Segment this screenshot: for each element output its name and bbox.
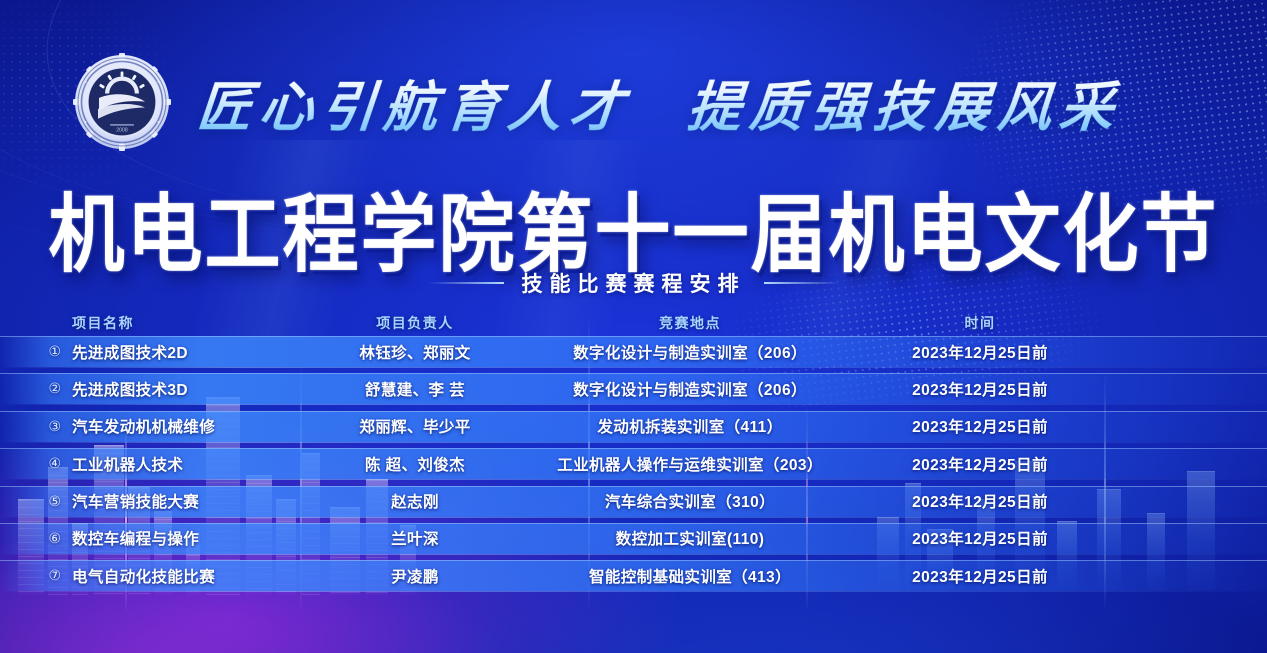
school-emblem-icon: 2008 bbox=[72, 52, 172, 152]
row-name: 数控车编程与操作 bbox=[72, 527, 310, 549]
row-index: ⑤ bbox=[0, 493, 72, 510]
row-index: ④ bbox=[0, 455, 72, 472]
table-row: ⑥ 数控车编程与操作 兰叶深 数控加工实训室(110) 2023年12月25日前 bbox=[0, 523, 1267, 554]
svg-text:2008: 2008 bbox=[116, 127, 128, 133]
row-leader: 舒慧建、李 芸 bbox=[310, 378, 520, 400]
row-name: 工业机器人技术 bbox=[72, 453, 310, 475]
row-index: ① bbox=[0, 343, 72, 360]
row-leader: 林钰珍、郑丽文 bbox=[310, 341, 520, 363]
column-header-time: 时间 bbox=[860, 313, 1100, 333]
row-time: 2023年12月25日前 bbox=[860, 565, 1100, 587]
row-place: 数控加工实训室(110) bbox=[520, 527, 860, 549]
table-row: ④ 工业机器人技术 陈 超、刘俊杰 工业机器人操作与运维实训室（203） 202… bbox=[0, 448, 1267, 479]
table-row: ③ 汽车发动机机械维修 郑丽辉、毕少平 发动机拆装实训室（411） 2023年1… bbox=[0, 411, 1267, 442]
subtitle-rule-right-decoration bbox=[764, 282, 840, 284]
row-time: 2023年12月25日前 bbox=[860, 415, 1100, 437]
row-leader: 陈 超、刘俊杰 bbox=[310, 453, 520, 475]
column-header-leader: 项目负责人 bbox=[310, 313, 520, 333]
row-leader: 郑丽辉、毕少平 bbox=[310, 415, 520, 437]
row-name: 汽车营销技能大赛 bbox=[72, 490, 310, 512]
row-leader: 尹凌鹏 bbox=[310, 565, 520, 587]
row-leader: 赵志刚 bbox=[310, 490, 520, 512]
table-row: ② 先进成图技术3D 舒慧建、李 芸 数字化设计与制造实训室（206） 2023… bbox=[0, 373, 1267, 404]
row-place: 汽车综合实训室（310） bbox=[520, 490, 860, 512]
row-place: 工业机器人操作与运维实训室（203） bbox=[520, 453, 860, 475]
row-name: 先进成图技术3D bbox=[72, 378, 310, 400]
row-index: ② bbox=[0, 380, 72, 397]
row-place: 数字化设计与制造实训室（206） bbox=[520, 341, 860, 363]
table-header-row: 序号 项目名称 项目负责人 竞赛地点 时间 bbox=[0, 310, 1267, 336]
poster-subtitle: 技能比赛赛程安排 bbox=[0, 268, 1267, 298]
competition-schedule-table: 序号 项目名称 项目负责人 竞赛地点 时间 ① 先进成图技术2D 林钰珍、郑丽文… bbox=[0, 310, 1267, 598]
row-index: ⑥ bbox=[0, 530, 72, 547]
slogan-left-text: 匠心引航育人才 bbox=[195, 63, 636, 142]
subtitle-rule-left-decoration bbox=[428, 282, 504, 284]
row-place: 智能控制基础实训室（413） bbox=[520, 565, 860, 587]
column-header-name: 项目名称 bbox=[72, 313, 310, 333]
row-name: 电气自动化技能比赛 bbox=[72, 565, 310, 587]
subtitle-text: 技能比赛赛程安排 bbox=[522, 268, 746, 298]
poster-header: 2008 匠心引航育人才 提质强技展风采 bbox=[72, 52, 1203, 152]
row-name: 汽车发动机机械维修 bbox=[72, 415, 310, 437]
row-place: 发动机拆装实训室（411） bbox=[520, 415, 860, 437]
poster-slogan: 匠心引航育人才 提质强技展风采 bbox=[195, 63, 1126, 142]
table-row: ⑤ 汽车营销技能大赛 赵志刚 汽车综合实训室（310） 2023年12月25日前 bbox=[0, 486, 1267, 517]
row-place: 数字化设计与制造实训室（206） bbox=[520, 378, 860, 400]
row-time: 2023年12月25日前 bbox=[860, 341, 1100, 363]
table-row: ① 先进成图技术2D 林钰珍、郑丽文 数字化设计与制造实训室（206） 2023… bbox=[0, 336, 1267, 367]
column-header-place: 竞赛地点 bbox=[520, 313, 860, 333]
row-index: ③ bbox=[0, 418, 72, 435]
row-name: 先进成图技术2D bbox=[72, 341, 310, 363]
row-time: 2023年12月25日前 bbox=[860, 453, 1100, 475]
festival-poster: 2008 匠心引航育人才 提质强技展风采 机电工程学院第十一届机电文化节 bbox=[0, 0, 1267, 653]
row-leader: 兰叶深 bbox=[310, 527, 520, 549]
row-time: 2023年12月25日前 bbox=[860, 378, 1100, 400]
row-time: 2023年12月25日前 bbox=[860, 527, 1100, 549]
table-row: ⑦ 电气自动化技能比赛 尹凌鹏 智能控制基础实训室（413） 2023年12月2… bbox=[0, 560, 1267, 591]
slogan-right-text: 提质强技展风采 bbox=[685, 63, 1126, 142]
row-index: ⑦ bbox=[0, 567, 72, 584]
row-time: 2023年12月25日前 bbox=[860, 490, 1100, 512]
